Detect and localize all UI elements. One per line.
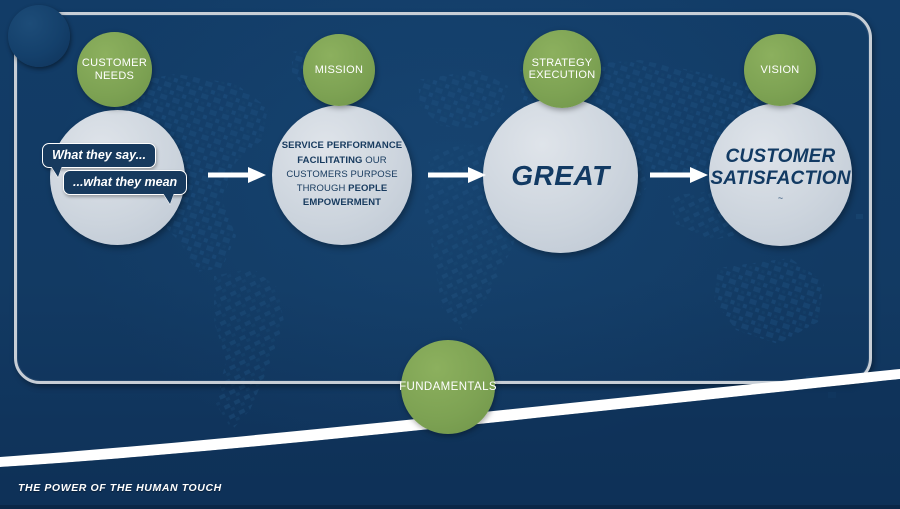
body-circle-vision[interactable]: CUSTOMER SATISFACTION ~	[709, 103, 852, 246]
foundation-circle-fundamentals[interactable]: FUNDAMENTALS	[401, 340, 495, 434]
speech-bubble-mean-text: ...what they mean	[73, 175, 177, 189]
speech-bubble-tail-icon	[51, 166, 62, 177]
fundamentals-label: FUNDAMENTALS	[399, 381, 497, 394]
arrow-strategy-to-vision	[650, 165, 708, 185]
body-circle-strategy-execution[interactable]: GREAT	[483, 98, 638, 253]
speech-bubble-tail-icon	[163, 193, 174, 204]
label-line-2: NEEDS	[82, 70, 147, 82]
speech-bubble-what-they-say[interactable]: What they say...	[42, 143, 156, 168]
satisfaction-sublabel: ~	[710, 193, 850, 204]
arrow-needs-to-mission	[208, 165, 266, 185]
label-line-1: VISION	[760, 64, 799, 76]
label-circle-mission[interactable]: MISSION	[303, 34, 375, 106]
tagline: THE POWER OF THE HUMAN TOUCH	[18, 482, 222, 494]
satisfaction-line-1: CUSTOMER	[710, 146, 850, 168]
label-line-1: STRATEGY	[529, 57, 596, 69]
satisfaction-line-2: SATISFACTION	[710, 168, 850, 190]
great-label: GREAT	[511, 160, 609, 192]
corner-accent-circle	[8, 5, 70, 67]
mission-line-3: THROUGH PEOPLE EMPOWERMENT	[272, 182, 412, 211]
speech-bubble-say-text: What they say...	[52, 148, 146, 162]
bottom-edge-strip	[0, 505, 900, 509]
label-line-1: MISSION	[315, 64, 364, 76]
label-circle-strategy-execution[interactable]: STRATEGY EXECUTION	[523, 30, 601, 108]
slide-canvas: CUSTOMER NEEDS What they say... ...what …	[0, 0, 900, 509]
label-line-1: CUSTOMER	[82, 57, 147, 69]
mission-statement: SERVICE PERFORMANCE FACILITATING OUR CUS…	[272, 139, 412, 210]
label-circle-vision[interactable]: VISION	[744, 34, 816, 106]
customer-satisfaction-label: CUSTOMER SATISFACTION ~	[710, 146, 850, 203]
label-circle-customer-needs[interactable]: CUSTOMER NEEDS	[77, 32, 152, 107]
label-line-2: EXECUTION	[529, 69, 596, 81]
mission-line-1: SERVICE PERFORMANCE	[272, 139, 412, 153]
body-circle-mission[interactable]: SERVICE PERFORMANCE FACILITATING OUR CUS…	[272, 105, 412, 245]
mission-line-2: FACILITATING OUR CUSTOMERS PURPOSE	[272, 154, 412, 183]
speech-bubble-what-they-mean[interactable]: ...what they mean	[63, 170, 187, 195]
arrow-mission-to-strategy	[428, 165, 486, 185]
